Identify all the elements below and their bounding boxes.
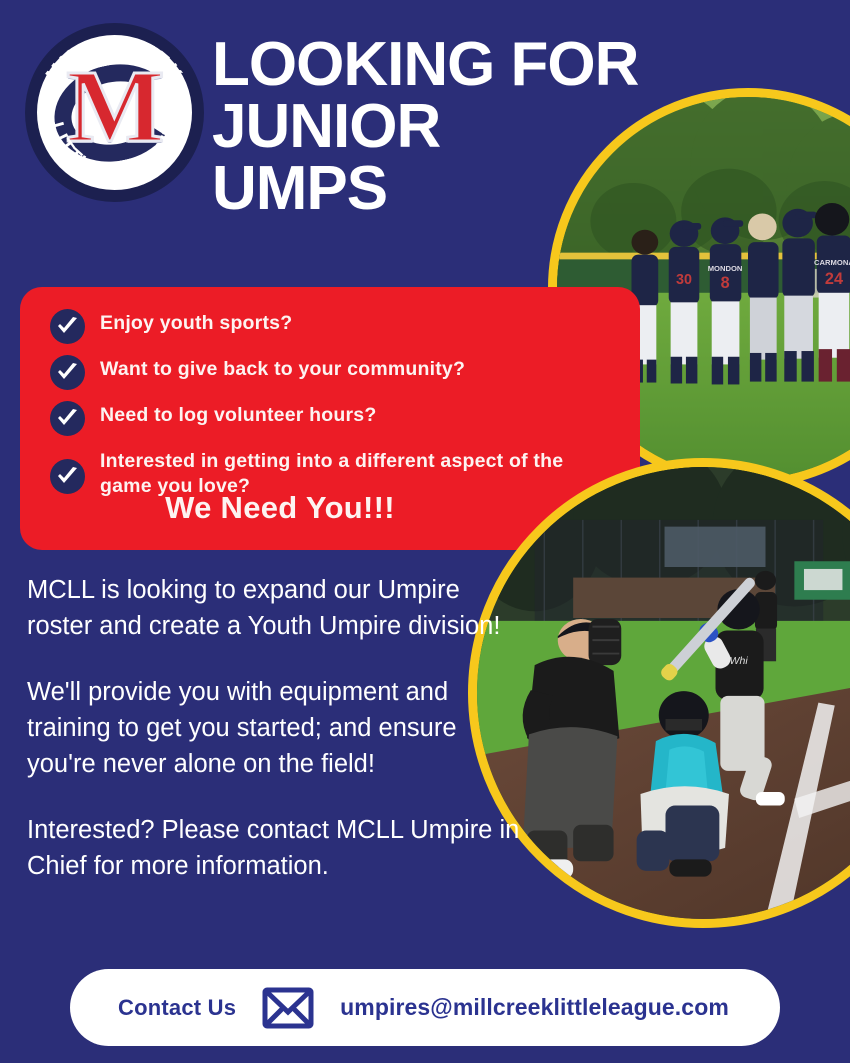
logo-curved-text: MILL CREEK LITTLE LEAGUE [27, 25, 202, 200]
body-paragraph-3: Interested? Please contact MCLL Umpire i… [27, 812, 527, 884]
checklist: Enjoy youth sports? Want to give back to… [50, 307, 630, 508]
envelope-icon [262, 987, 314, 1029]
list-item-label: Want to give back to your community? [100, 353, 465, 382]
callout-text: We Need You!!! [20, 490, 540, 526]
headline-line-1: LOOKING FOR [212, 34, 712, 96]
list-item: Want to give back to your community? [50, 353, 630, 390]
list-item: Enjoy youth sports? [50, 307, 630, 344]
body-paragraph-2: We'll provide you with equipment and tra… [27, 674, 527, 782]
logo-top-text: MILL CREEK [42, 32, 187, 86]
logo-bottom-text: LITTLE LEAGUE [45, 120, 184, 184]
check-icon [50, 401, 85, 436]
check-icon [50, 355, 85, 390]
svg-text:CARMONA: CARMONA [814, 258, 850, 267]
check-icon [50, 309, 85, 344]
checklist-card: Enjoy youth sports? Want to give back to… [20, 287, 640, 550]
contact-email[interactable]: umpires@millcreeklittleleague.com [340, 994, 729, 1021]
list-item: Need to log volunteer hours? [50, 399, 630, 436]
list-item-label: Enjoy youth sports? [100, 307, 292, 336]
svg-text:Whi: Whi [729, 655, 748, 667]
svg-text:24: 24 [825, 270, 843, 288]
contact-bar[interactable]: Contact Us umpires@millcreeklittleleague… [70, 969, 780, 1046]
body-paragraph-1: MCLL is looking to expand our Umpire ros… [27, 572, 527, 644]
contact-label: Contact Us [118, 995, 236, 1021]
mill-creek-little-league-logo: M MILL CREEK LITTLE LEAGUE [27, 25, 202, 200]
svg-text:30: 30 [676, 272, 692, 288]
svg-text:MONDON: MONDON [708, 264, 743, 273]
check-icon [50, 459, 85, 494]
flyer-poster: M MILL CREEK LITTLE LEAGUE LOOKING FOR J… [0, 0, 850, 1063]
list-item-label: Need to log volunteer hours? [100, 399, 376, 428]
body-copy: MCLL is looking to expand our Umpire ros… [27, 572, 527, 910]
svg-text:8: 8 [721, 274, 730, 292]
